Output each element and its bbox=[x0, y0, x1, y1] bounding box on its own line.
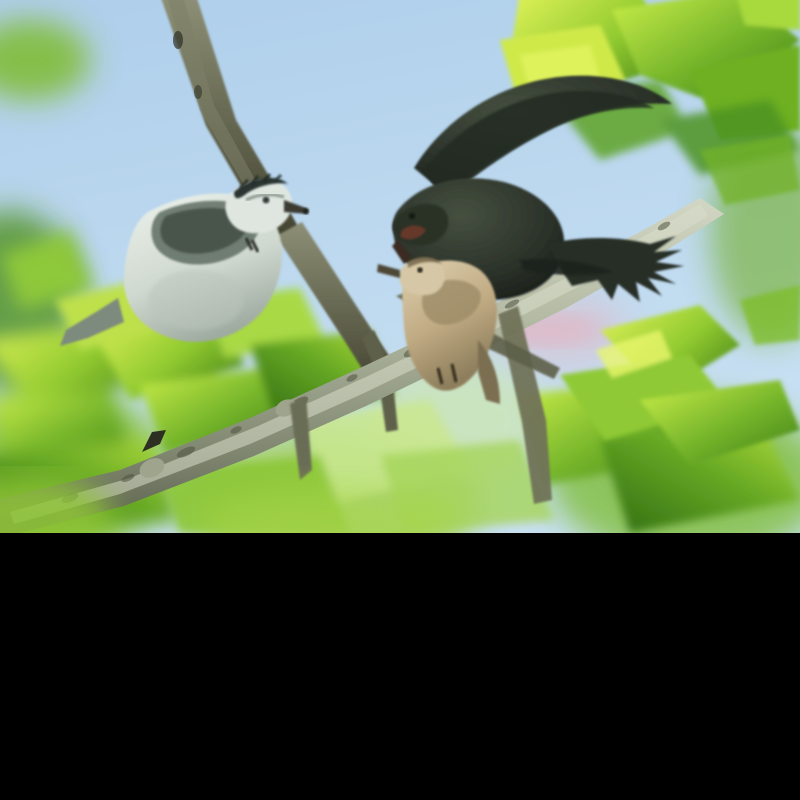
bird-photograph bbox=[0, 0, 800, 533]
bird-photo-card: Chiví común Red-eyed Vireo Vireo olivace… bbox=[0, 0, 800, 800]
caption-panel: Chiví común Red-eyed Vireo Vireo olivace… bbox=[0, 533, 800, 800]
photograph-scene bbox=[0, 0, 800, 533]
